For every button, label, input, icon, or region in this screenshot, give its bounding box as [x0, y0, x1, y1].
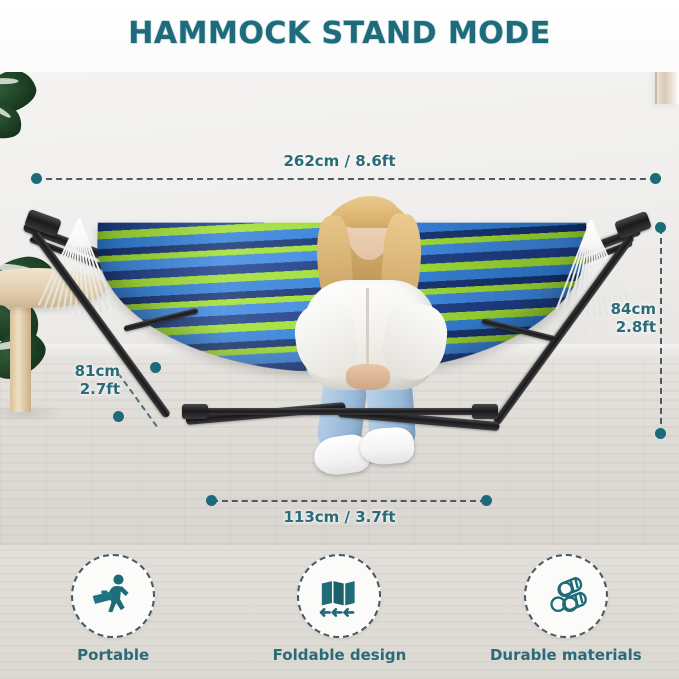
dimension-line-bottom [212, 500, 486, 502]
feature-portable: Portable [0, 545, 226, 679]
feature-icon-circle [524, 554, 608, 638]
dimension-dot-top-left [31, 173, 42, 184]
stand-foot-left [182, 404, 208, 419]
feature-icon-circle [71, 554, 155, 638]
feature-foldable-design: Foldable design [226, 545, 452, 679]
dimension-dot-left-top [150, 362, 161, 373]
hoodie-zipper [366, 288, 369, 372]
person-carrying-case-icon [88, 571, 138, 621]
title-bar: HAMMOCK STAND MODE [0, 0, 679, 72]
folding-panels-arrows-icon [314, 571, 364, 621]
stand-foot-right [472, 404, 498, 419]
dimension-label-length: 262cm / 8.6ft [0, 152, 679, 170]
dimension-line-right [660, 228, 662, 434]
dimension-dot-bottom-right [481, 495, 492, 506]
dimension-line-top [36, 178, 656, 180]
product-photo [0, 0, 679, 545]
dimension-dot-right-bottom [655, 428, 666, 439]
feature-label: Foldable design [273, 646, 407, 664]
dimension-label-height: 84cm 2.8ft [610, 300, 656, 336]
product-infographic: HAMMOCK STAND MODE 262cm / 8.6ft 84cm 2.… [0, 0, 679, 679]
dimension-dot-bottom-left [206, 495, 217, 506]
hands [346, 364, 390, 390]
table-leg [10, 294, 31, 412]
dimension-dot-left-bottom [113, 411, 124, 422]
feature-icon-circle [297, 554, 381, 638]
page-title: HAMMOCK STAND MODE [0, 16, 679, 51]
seated-person [286, 188, 458, 478]
arm-right [379, 300, 451, 384]
dimension-dot-right-top [655, 222, 666, 233]
stacked-steel-tubes-icon [541, 571, 591, 621]
feature-durable-materials: Durable materials [453, 545, 679, 679]
sneaker-right [359, 426, 415, 466]
feature-label: Portable [77, 646, 149, 664]
feature-row: Portable Foldable design [0, 545, 679, 679]
stand-base-crossbar [196, 408, 486, 415]
feature-label: Durable materials [490, 646, 642, 664]
dimension-label-seat: 81cm 2.7ft [58, 362, 120, 398]
dimension-label-width: 113cm / 3.7ft [0, 508, 679, 526]
dimension-dot-top-right [650, 173, 661, 184]
